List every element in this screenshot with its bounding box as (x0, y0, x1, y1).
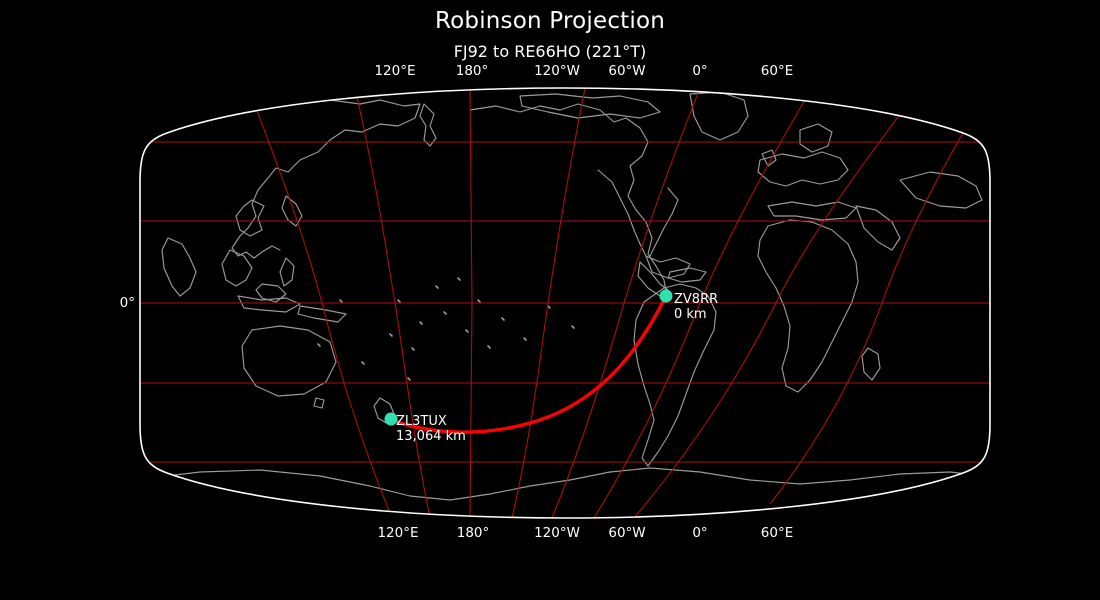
endpoint-label-start: ZV8RR 0 km (674, 292, 718, 323)
endpoint-start-distance: 0 km (674, 307, 718, 322)
endpoint-label-end: ZL3TUX 13,064 km (396, 414, 466, 445)
map-canvas[interactable] (0, 0, 1100, 600)
map-figure: Robinson Projection FJ92 to RE66HO (221°… (0, 0, 1100, 600)
endpoint-start-callsign: ZV8RR (674, 292, 718, 307)
endpoint-marker-start[interactable] (660, 290, 673, 303)
endpoint-end-distance: 13,064 km (396, 429, 466, 444)
endpoint-end-callsign: ZL3TUX (396, 414, 466, 429)
